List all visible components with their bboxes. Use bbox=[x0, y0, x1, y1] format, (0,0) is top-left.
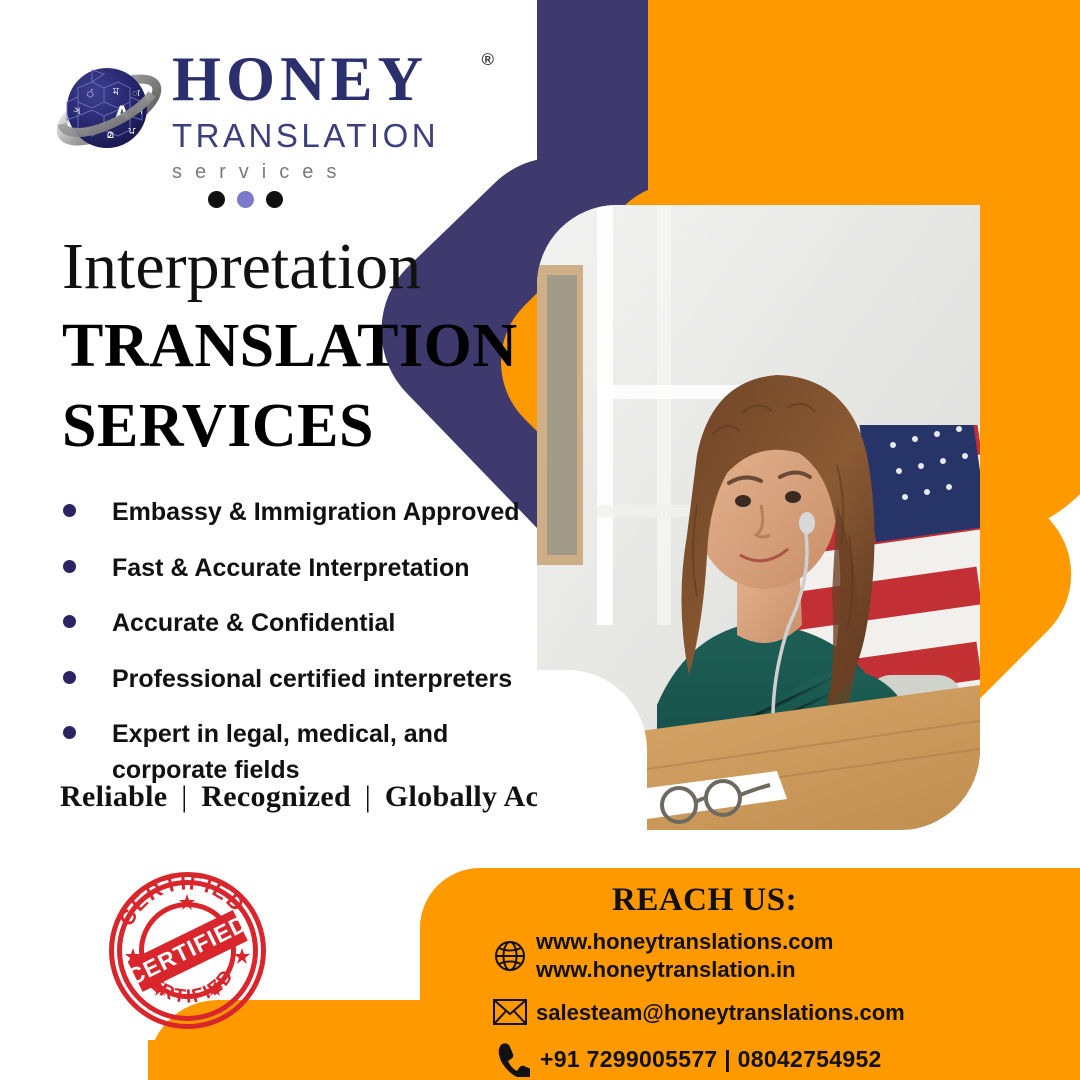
headline-bold-1: TRANSLATION bbox=[62, 314, 532, 380]
brand-logo: ் ম ा ગ ୙ A ग ア മ ਪ HONEY® TRANSLATION s… bbox=[52, 48, 452, 178]
phone-numbers[interactable]: +91 7299005577 | 08042754952 bbox=[540, 1045, 882, 1074]
contact-row-website[interactable]: www.honeytranslations.com www.honeytrans… bbox=[492, 928, 1072, 983]
bullet-dot-icon bbox=[63, 560, 76, 573]
logo-dots bbox=[208, 191, 283, 208]
reach-us-heading: REACH US: bbox=[612, 882, 797, 919]
svg-text:ा: ा bbox=[132, 89, 140, 99]
globe-icon bbox=[492, 938, 536, 974]
svg-text:ગ: ગ bbox=[73, 106, 80, 117]
contact-row-email[interactable]: salesteam@honeytranslations.com bbox=[492, 997, 1072, 1027]
headline-bold-2: SERVICES bbox=[62, 394, 532, 460]
feature-list: Embassy & Immigration Approved Fast & Ac… bbox=[55, 495, 555, 808]
logo-wordmark: HONEY® TRANSLATION services bbox=[172, 48, 472, 184]
bullet-dot-icon bbox=[63, 504, 76, 517]
contact-list: www.honeytranslations.com www.honeytrans… bbox=[492, 928, 1072, 1080]
logo-name: HONEY bbox=[172, 48, 428, 111]
headline-block: Interpretation TRANSLATION SERVICES bbox=[62, 234, 532, 459]
dot-3 bbox=[266, 191, 283, 208]
globe-languages-icon: ் ম ा ગ ୙ A ग ア മ ਪ bbox=[52, 54, 170, 166]
bullet-dot-icon bbox=[63, 671, 76, 684]
tagline-separator: | bbox=[175, 780, 193, 813]
website-url-1[interactable]: www.honeytranslations.com bbox=[536, 929, 833, 954]
logo-line-services: services bbox=[172, 161, 472, 184]
poster-canvas: ் ম ा ગ ୙ A ग ア മ ਪ HONEY® TRANSLATION s… bbox=[0, 0, 1080, 1080]
feature-text: Expert in legal, medical, and corporate … bbox=[112, 717, 462, 788]
svg-text:்: ் bbox=[86, 87, 96, 100]
tagline-part-2: Recognized bbox=[201, 780, 351, 813]
feature-text: Accurate & Confidential bbox=[112, 606, 395, 642]
tagline-separator: | bbox=[359, 780, 377, 813]
phone-icon bbox=[492, 1041, 540, 1077]
feature-text: Embassy & Immigration Approved bbox=[112, 495, 520, 531]
registered-mark-icon: ® bbox=[481, 50, 494, 70]
email-address[interactable]: salesteam@honeytranslations.com bbox=[536, 999, 905, 1027]
bullet-dot-icon bbox=[63, 726, 76, 739]
feature-text: Professional certified interpreters bbox=[112, 662, 512, 698]
list-item: Embassy & Immigration Approved bbox=[55, 495, 555, 531]
list-item: Accurate & Confidential bbox=[55, 606, 555, 642]
svg-text:ম: ম bbox=[112, 85, 120, 98]
bullet-dot-icon bbox=[63, 615, 76, 628]
tagline-part-1: Reliable bbox=[60, 780, 167, 813]
dot-2 bbox=[237, 191, 254, 208]
website-urls[interactable]: www.honeytranslations.com www.honeytrans… bbox=[536, 928, 833, 983]
list-item: Professional certified interpreters bbox=[55, 662, 555, 698]
svg-text:ਪ: ਪ bbox=[128, 126, 136, 137]
website-url-2[interactable]: www.honeytranslation.in bbox=[536, 956, 833, 984]
list-item: Expert in legal, medical, and corporate … bbox=[55, 717, 555, 788]
interpreter-photo bbox=[537, 205, 980, 830]
logo-line-translation: TRANSLATION bbox=[172, 117, 472, 155]
envelope-icon bbox=[492, 997, 536, 1027]
certified-stamp-icon: CERTIFIED CERTIFIED CERTIFIED bbox=[105, 868, 270, 1033]
contact-row-phone[interactable]: +91 7299005577 | 08042754952 bbox=[492, 1041, 1072, 1077]
feature-text: Fast & Accurate Interpretation bbox=[112, 551, 469, 587]
headline-script: Interpretation bbox=[62, 234, 532, 300]
dot-1 bbox=[208, 191, 225, 208]
list-item: Fast & Accurate Interpretation bbox=[55, 551, 555, 587]
